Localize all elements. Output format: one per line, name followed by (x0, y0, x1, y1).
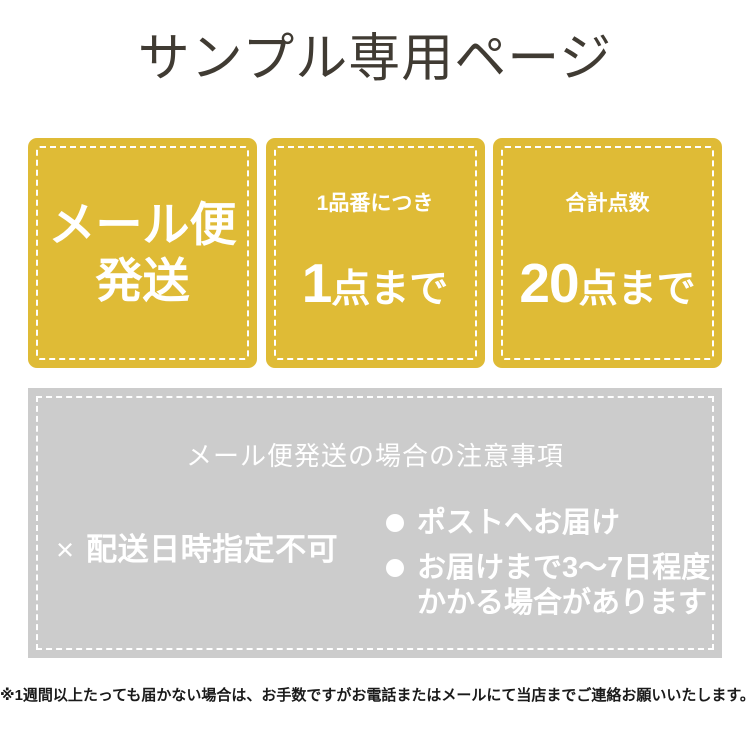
notice-right-column: ポストへお届け お届けまで3〜7日程度 かかる場合があります (386, 506, 716, 631)
shipping-cards-row: メール便 発送 1品番につき 1点まで 合計点数 20点まで (28, 138, 722, 368)
card-total-limit-caption: 合計点数 (493, 191, 722, 217)
card-per-item-limit-content: 1品番につき 1点まで (266, 191, 485, 315)
bullet-dot-icon (386, 514, 404, 532)
card-total-limit-number: 20 (519, 252, 578, 314)
notice-post-delivery-text: ポストへお届け (417, 506, 620, 541)
card-mail-delivery: メール便 発送 (28, 138, 257, 368)
card-mail-delivery-line1: メール便 (28, 197, 257, 253)
list-item: ポストへお届け (386, 506, 716, 541)
notice-delivery-time-line1: お届けまで3〜7日程度 (417, 551, 710, 586)
card-per-item-limit-number: 1 (302, 252, 332, 314)
footer-note: ※1週間以上たっても届かない場合は、お手数ですがお電話またはメールにて当店までご… (0, 686, 750, 706)
bullet-dot-icon (386, 559, 404, 577)
notice-heading: メール便発送の場合の注意事項 (28, 440, 722, 472)
card-mail-delivery-content: メール便 発送 (28, 197, 257, 309)
card-per-item-limit-caption: 1品番につき (266, 191, 485, 217)
list-item: お届けまで3〜7日程度 かかる場合があります (386, 551, 716, 621)
card-total-limit: 合計点数 20点まで (493, 138, 722, 368)
notice-delivery-time-line2: かかる場合があります (417, 586, 710, 621)
notice-left-column: ×配送日時指定不可 (56, 534, 386, 565)
notice-panel: メール便発送の場合の注意事項 ×配送日時指定不可 ポストへお届け お届けまで3〜… (28, 388, 722, 658)
page-title: サンプル専用ページ (0, 28, 750, 90)
card-per-item-limit: 1品番につき 1点まで (266, 138, 485, 368)
card-per-item-limit-unit: 点まで (331, 268, 448, 311)
card-mail-delivery-line2: 発送 (28, 253, 257, 309)
cross-icon: × (56, 532, 74, 567)
notice-columns: ×配送日時指定不可 ポストへお届け お届けまで3〜7日程度 かかる場合があります (28, 506, 722, 646)
notice-delivery-time-block: お届けまで3〜7日程度 かかる場合があります (417, 551, 710, 621)
card-per-item-limit-value: 1点まで (266, 251, 485, 315)
notice-no-date-designation-text: 配送日時指定不可 (86, 532, 338, 567)
card-total-limit-value: 20点まで (493, 251, 722, 315)
card-total-limit-unit: 点まで (579, 268, 696, 311)
card-total-limit-content: 合計点数 20点まで (493, 191, 722, 315)
